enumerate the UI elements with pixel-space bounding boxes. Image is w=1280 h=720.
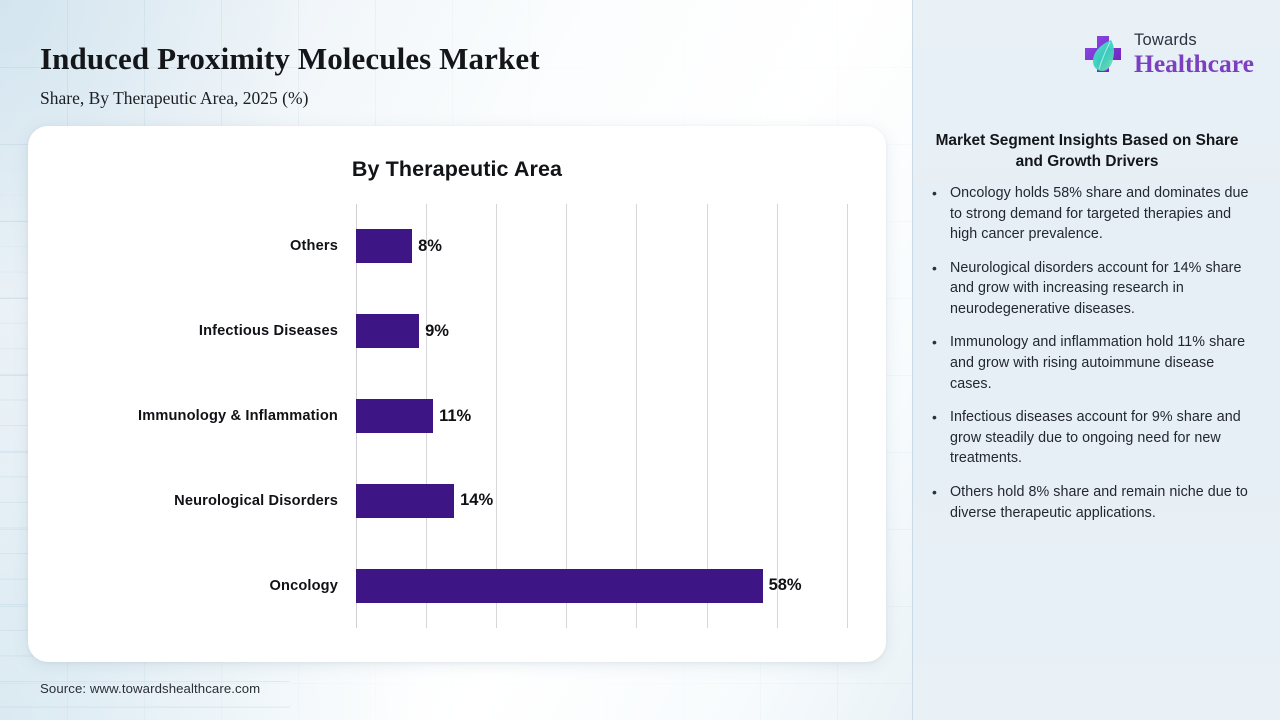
logo-text-towards: Towards xyxy=(1134,32,1254,49)
chart-title: By Therapeutic Area xyxy=(28,157,886,182)
bullet-icon: • xyxy=(932,258,950,320)
bar-row[interactable]: Immunology & Inflammation11% xyxy=(356,388,912,444)
insight-text: Immunology and inflammation hold 11% sha… xyxy=(950,332,1252,394)
bar-row[interactable]: Neurological Disorders14% xyxy=(356,473,912,529)
bar-value-label: 58% xyxy=(769,576,802,595)
insight-text: Oncology holds 58% share and dominates d… xyxy=(950,183,1252,245)
left-content-area: Induced Proximity Molecules Market Share… xyxy=(0,0,912,720)
bar-value-label: 8% xyxy=(418,237,442,256)
cross-leaf-icon xyxy=(1080,31,1126,77)
bullet-icon: • xyxy=(932,183,950,245)
bullet-icon: • xyxy=(932,332,950,394)
bar-category-label: Infectious Diseases xyxy=(199,323,338,339)
insight-text: Others hold 8% share and remain niche du… xyxy=(950,482,1252,523)
insight-item: •Immunology and inflammation hold 11% sh… xyxy=(932,332,1252,394)
insights-list: •Oncology holds 58% share and dominates … xyxy=(932,183,1252,536)
brand-logo[interactable]: Towards Healthcare xyxy=(1080,26,1255,82)
bar[interactable] xyxy=(356,484,454,518)
bar-value-label: 11% xyxy=(439,407,471,426)
insight-item: •Infectious diseases account for 9% shar… xyxy=(932,407,1252,469)
bullet-icon: • xyxy=(932,407,950,469)
bar-category-label: Immunology & Inflammation xyxy=(138,408,338,424)
logo-text-healthcare: Healthcare xyxy=(1134,51,1254,77)
insight-item: •Oncology holds 58% share and dominates … xyxy=(932,183,1252,245)
source-note: Source: www.towardshealthcare.com xyxy=(40,681,260,696)
bar-category-label: Others xyxy=(290,238,338,254)
bar-row[interactable]: Oncology58% xyxy=(356,558,912,614)
insight-item: •Others hold 8% share and remain niche d… xyxy=(932,482,1252,523)
bar-row[interactable]: Infectious Diseases9% xyxy=(356,303,912,359)
page-title: Induced Proximity Molecules Market xyxy=(40,41,540,77)
bar[interactable] xyxy=(356,569,763,603)
insights-heading: Market Segment Insights Based on Share a… xyxy=(922,130,1252,173)
bar[interactable] xyxy=(356,314,419,348)
bar-row[interactable]: Others8% xyxy=(356,218,912,274)
bar[interactable] xyxy=(356,229,412,263)
insight-item: •Neurological disorders account for 14% … xyxy=(932,258,1252,320)
chart-card: By Therapeutic Area Others8%Infectious D… xyxy=(28,126,886,662)
bar-category-label: Oncology xyxy=(270,578,339,594)
bar-chart-plot-area: Others8%Infectious Diseases9%Immunology … xyxy=(356,204,847,628)
insight-text: Neurological disorders account for 14% s… xyxy=(950,258,1252,320)
bar[interactable] xyxy=(356,399,433,433)
page-subtitle: Share, By Therapeutic Area, 2025 (%) xyxy=(40,88,308,109)
logo-wordmark: Towards Healthcare xyxy=(1134,32,1254,76)
bar-category-label: Neurological Disorders xyxy=(174,493,338,509)
insight-text: Infectious diseases account for 9% share… xyxy=(950,407,1252,469)
bar-value-label: 14% xyxy=(460,491,493,510)
bullet-icon: • xyxy=(932,482,950,523)
bar-value-label: 9% xyxy=(425,322,449,341)
